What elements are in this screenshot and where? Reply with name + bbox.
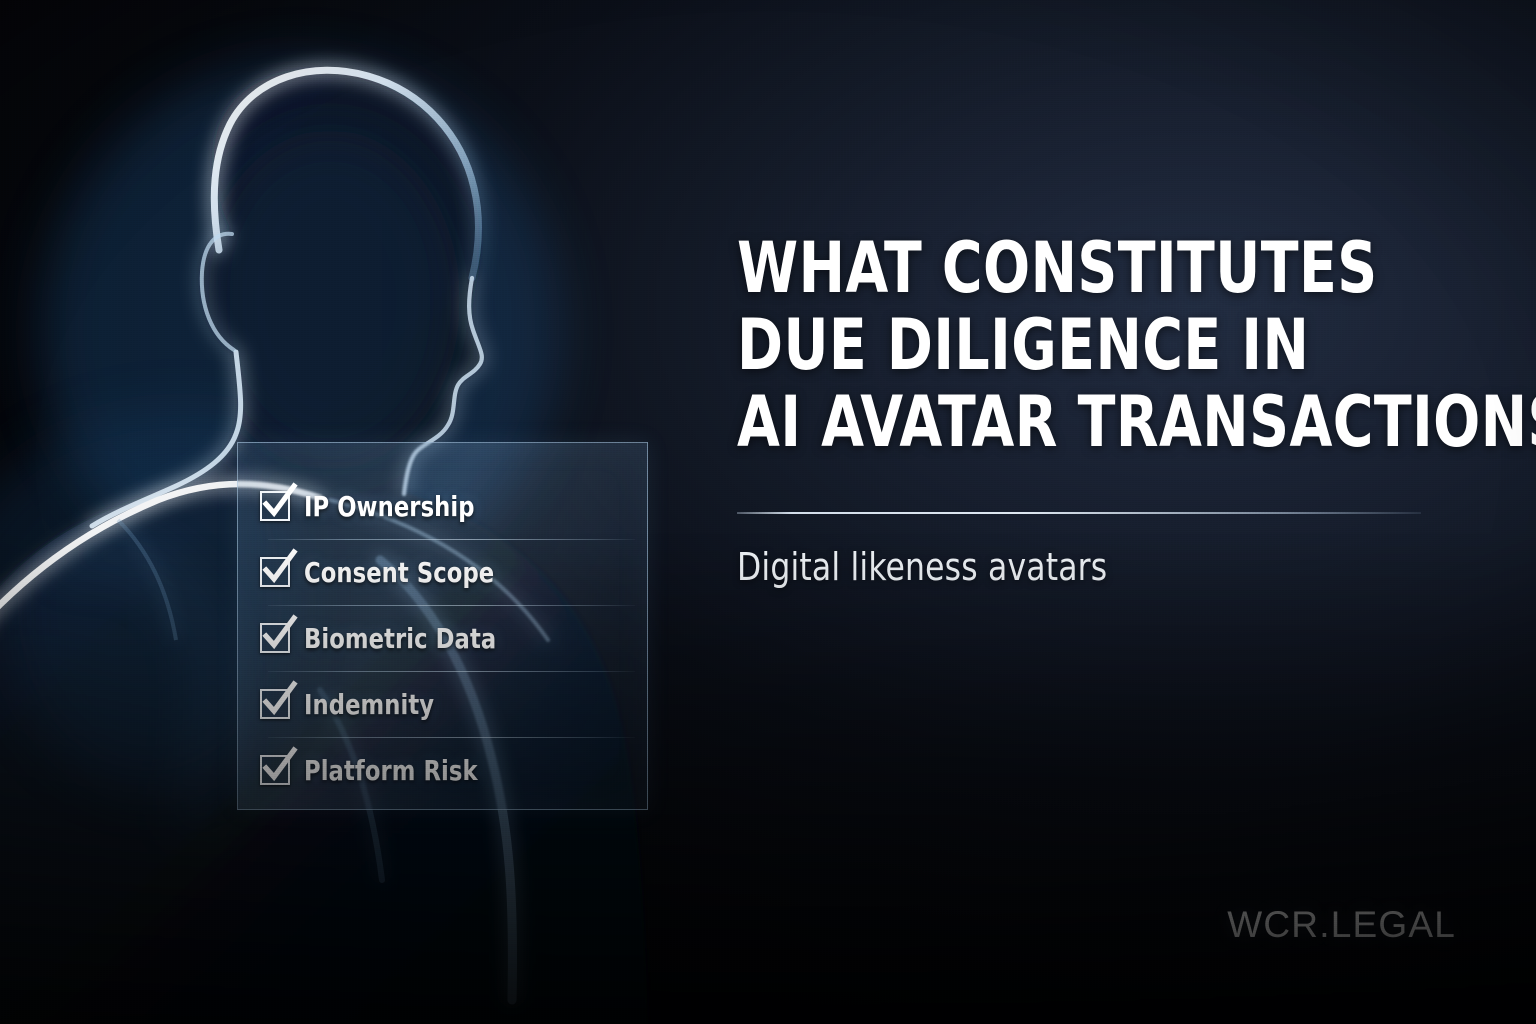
film-grain-overlay [0, 0, 1536, 1024]
slide-canvas: IP Ownership Consent Scope Biometric Dat… [0, 0, 1536, 1024]
